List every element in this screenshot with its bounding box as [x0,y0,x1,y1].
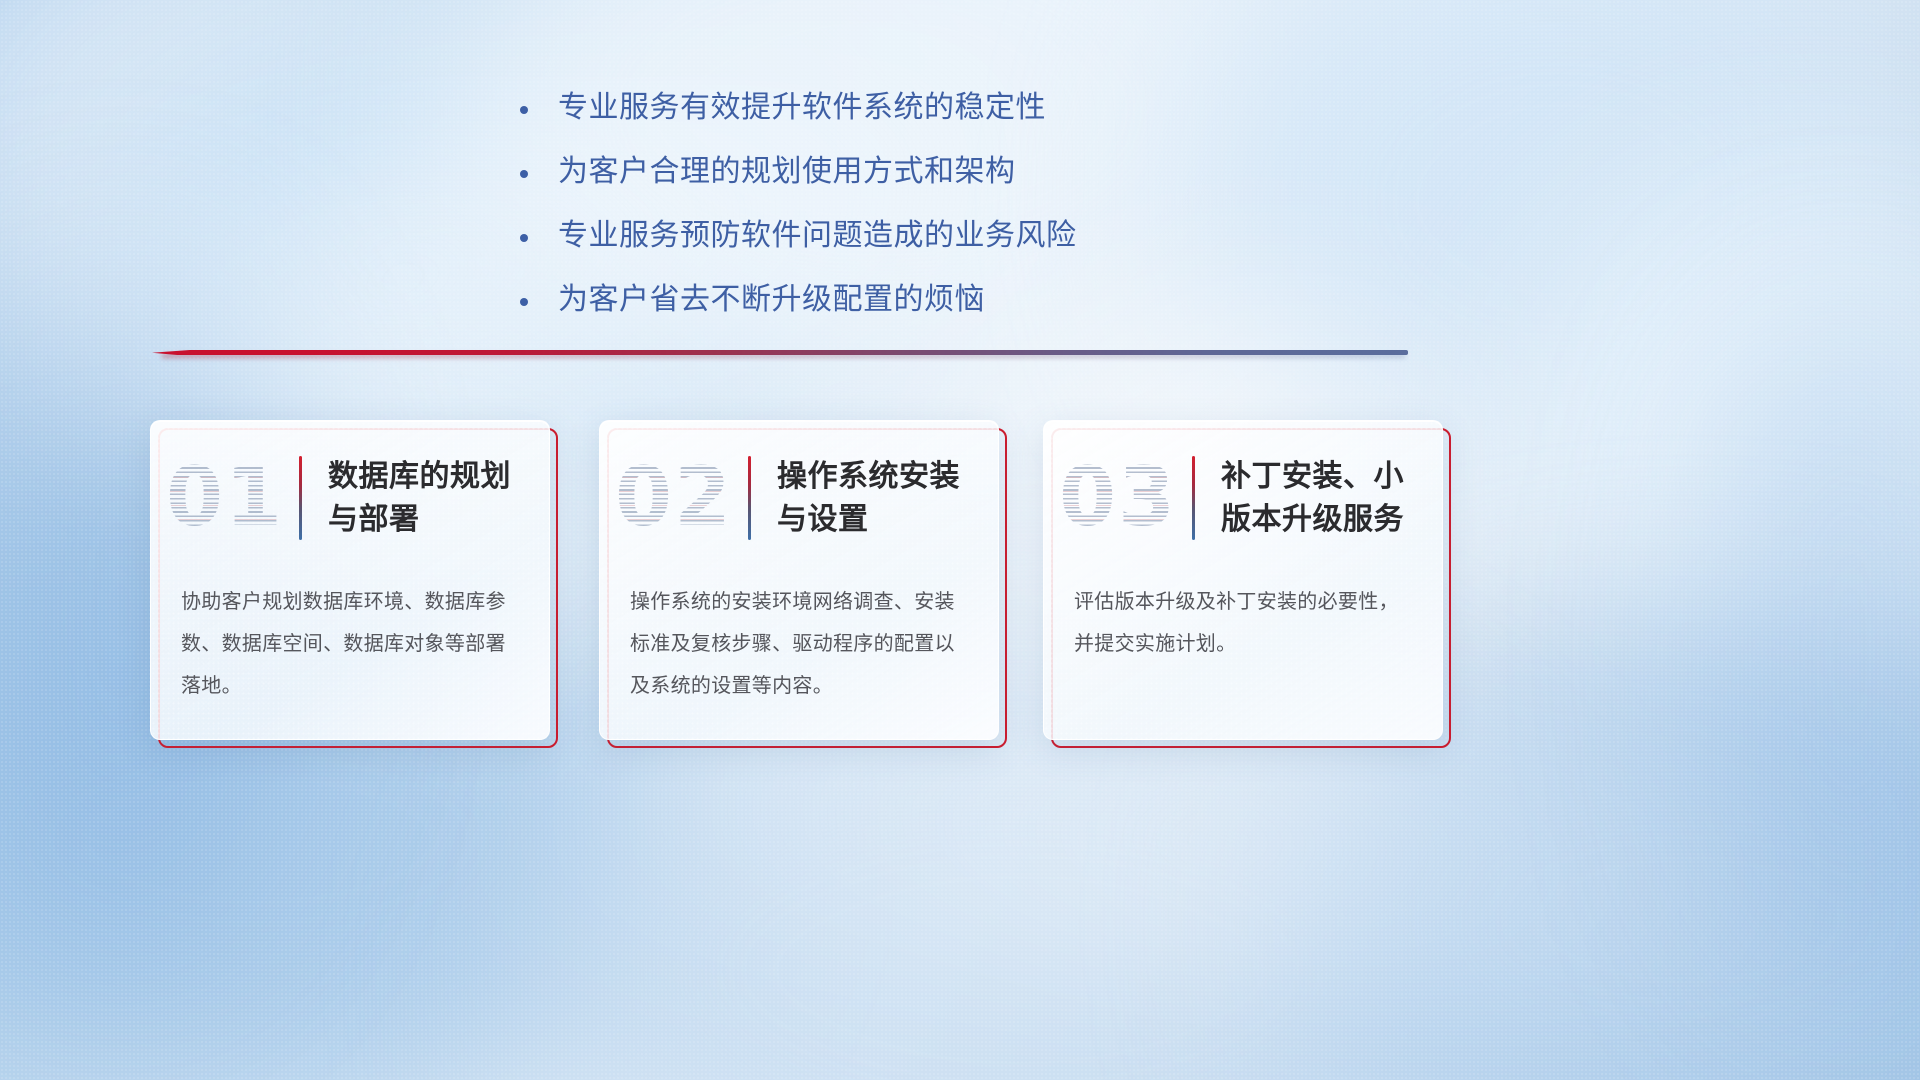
card-header: 03 补丁安装、小 版本升级服务 [1044,443,1442,553]
bullet-item-label: 专业服务有效提升软件系统的稳定性 [558,88,1046,128]
card-title-line-1: 补丁安装、小 [1221,455,1404,498]
card-surface: 01 数据库的规划 与部署 协助客户规划数据库环境、数据库参数、数据库空间、数据… [150,420,550,740]
bullet-item: 专业服务有效提升软件系统的稳定性 [520,88,1420,128]
card-header: 01 数据库的规划 与部署 [151,443,549,553]
card-title-line-2: 与部署 [328,498,511,541]
bullet-dot-icon [520,234,528,242]
card-title-divider [748,456,751,540]
card-title-divider [1192,456,1195,540]
service-card[interactable]: 03 补丁安装、小 版本升级服务 评估版本升级及补丁安装的必要性，并提交实施计划… [1043,420,1443,740]
card-description: 操作系统的安装环境网络调查、安装标准及复核步骤、驱动程序的配置以及系统的设置等内… [630,581,972,707]
section-divider [152,347,1408,359]
bullet-dot-icon [520,170,528,178]
card-description: 协助客户规划数据库环境、数据库参数、数据库空间、数据库对象等部署落地。 [181,581,523,707]
card-surface: 02 操作系统安装 与设置 操作系统的安装环境网络调查、安装标准及复核步骤、驱动… [599,420,999,740]
card-number-watermark: 03 [1044,448,1192,548]
service-card[interactable]: 02 操作系统安装 与设置 操作系统的安装环境网络调查、安装标准及复核步骤、驱动… [599,420,999,740]
card-number-watermark: 02 [600,448,748,548]
service-card[interactable]: 01 数据库的规划 与部署 协助客户规划数据库环境、数据库参数、数据库空间、数据… [150,420,550,740]
bullet-dot-icon [520,106,528,114]
card-title-line-2: 版本升级服务 [1221,498,1404,541]
bullet-item: 为客户合理的规划使用方式和架构 [520,152,1420,192]
card-title-line-1: 数据库的规划 [328,455,511,498]
card-title-line-1: 操作系统安装 [777,455,960,498]
card-title-divider [299,456,302,540]
card-title: 操作系统安装 与设置 [777,455,960,541]
benefits-bullet-list: 专业服务有效提升软件系统的稳定性 为客户合理的规划使用方式和架构 专业服务预防软… [520,88,1420,344]
bullet-item: 为客户省去不断升级配置的烦恼 [520,280,1420,320]
divider-bar [152,350,1408,355]
bullet-item-label: 专业服务预防软件问题造成的业务风险 [558,216,1077,256]
card-title: 数据库的规划 与部署 [328,455,511,541]
card-number-watermark: 01 [151,448,299,548]
card-description: 评估版本升级及补丁安装的必要性，并提交实施计划。 [1074,581,1416,665]
card-title-line-2: 与设置 [777,498,960,541]
bullet-dot-icon [520,298,528,306]
card-header: 02 操作系统安装 与设置 [600,443,998,553]
bullet-item: 专业服务预防软件问题造成的业务风险 [520,216,1420,256]
bullet-item-label: 为客户合理的规划使用方式和架构 [558,152,1016,192]
card-surface: 03 补丁安装、小 版本升级服务 评估版本升级及补丁安装的必要性，并提交实施计划… [1043,420,1443,740]
bullet-item-label: 为客户省去不断升级配置的烦恼 [558,280,985,320]
card-title: 补丁安装、小 版本升级服务 [1221,455,1404,541]
